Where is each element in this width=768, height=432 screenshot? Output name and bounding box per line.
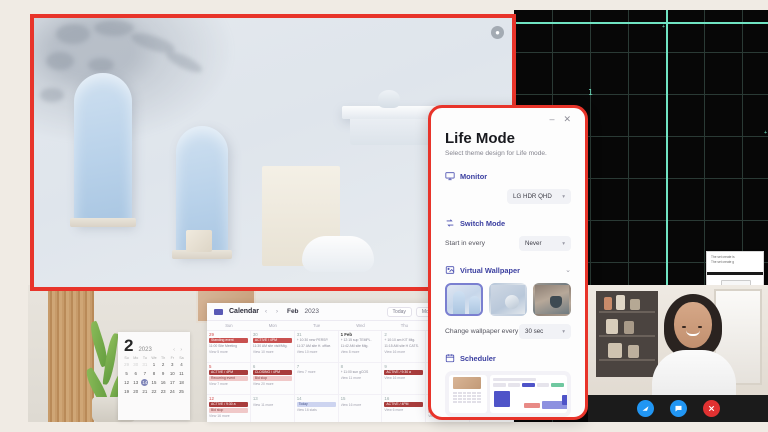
calendar-event[interactable]: View 16 more <box>384 376 423 381</box>
calendar-day-cell[interactable]: 9ACTIVE / 9:30 aView 16 more <box>382 363 426 395</box>
arch-base-left <box>70 218 136 227</box>
wall-calendar: 2 2023 ‹ › SuMoTuWeThFrSa 29303112345678… <box>118 332 190 420</box>
switch-icon <box>445 218 455 228</box>
page-subtitle: Select theme design for Life mode. <box>445 150 571 157</box>
chevron-down-icon: ▾ <box>562 194 565 200</box>
calendar-weekday: Wed <box>339 321 383 330</box>
calendar-event[interactable]: 11:15 AM site H CATS. <box>384 344 423 349</box>
cad-axis-horizontal <box>514 22 768 24</box>
scheduler-calendar-thumb <box>449 375 487 413</box>
calendar-day-number: 30 <box>253 332 292 337</box>
wallpaper-thumb-sphere[interactable] <box>489 283 527 316</box>
wall-calendar-day: 19 <box>122 388 131 395</box>
cad-tick: + <box>662 24 665 30</box>
calendar-icon <box>445 353 455 363</box>
calendar-event[interactable]: Today <box>297 402 336 407</box>
wall-calendar-day: 11 <box>177 370 186 377</box>
calendar-day-number: 5 <box>209 364 248 369</box>
calendar-logo-icon <box>214 309 223 315</box>
wallpaper-thumb-sunset[interactable] <box>533 283 571 316</box>
calendar-event[interactable]: 11:42 AM site Mtg. <box>341 344 380 349</box>
calendar-day-number: 15 <box>341 396 380 401</box>
calendar-event[interactable]: + 10:10 am KIT Mtg. <box>384 338 423 343</box>
calendar-event[interactable]: View 11 more <box>253 403 292 408</box>
calendar-event[interactable]: View 7 more <box>297 370 336 375</box>
cad-label: 1 <box>588 88 593 97</box>
wall-calendar-day: 20 <box>131 388 140 395</box>
section-scheduler: Scheduler <box>445 353 571 363</box>
calendar-day-number: 9 <box>384 364 423 369</box>
calendar-day-cell[interactable]: 5ACTIVE / 4PMRecurring eventView 7 more <box>207 363 251 395</box>
calendar-day-number: 12 <box>209 396 248 401</box>
calendar-app-title: Calendar <box>229 308 259 315</box>
mini-dialog-line-2: The set create g <box>711 260 759 265</box>
calendar-event[interactable]: View 16 stats <box>297 408 336 413</box>
calendar-day-number: 6 <box>253 364 292 369</box>
start-in-every-label: Start in every <box>445 240 485 247</box>
wall-calendar-day: 6 <box>131 370 140 377</box>
calendar-event[interactable]: + 12:15 sup TEMPL. <box>341 338 380 343</box>
calendar-event[interactable]: View 20 more <box>253 382 292 387</box>
calendar-event[interactable]: View 16 more <box>341 403 380 408</box>
calendar-day-number: 14 <box>297 396 336 401</box>
chat-button[interactable] <box>670 400 687 417</box>
calendar-day-number: 13 <box>253 396 292 401</box>
section-monitor: Monitor <box>445 171 571 181</box>
minimize-button[interactable]: – <box>549 115 554 124</box>
page-title: Life Mode <box>445 130 571 147</box>
life-mode-panel[interactable]: – ✕ Life Mode Select theme design for Li… <box>428 105 588 420</box>
wall-calendar-weekday: Fr <box>168 356 177 360</box>
wall-calendar-day: 12 <box>122 379 131 386</box>
wall-calendar-weekday: Su <box>122 356 131 360</box>
wall-calendar-day: 14 <box>141 379 148 386</box>
calendar-day-number: 1 Feb <box>341 332 380 337</box>
wall-calendar-day: 2 <box>159 361 168 368</box>
wall-calendar-day: 3 <box>168 361 177 368</box>
chevron-down-icon: ▾ <box>562 241 565 247</box>
calendar-day-number: 7 <box>297 364 336 369</box>
wallpaper-interval-value: 30 sec <box>525 328 543 335</box>
calendar-event[interactable]: + 11:00 sun gCOS <box>341 370 380 375</box>
calendar-day-cell[interactable]: 29Standing event11:00 Site MeetingView 5… <box>207 331 251 363</box>
calendar-today-button[interactable]: Today <box>387 307 412 317</box>
calendar-event[interactable]: ACTIVE / 4PM <box>209 370 248 375</box>
wallpaper-thumbnail-list <box>445 283 571 316</box>
wall-calendar-day: 8 <box>149 370 158 377</box>
monitor-row: LG HDR QHD ▾ <box>445 189 571 204</box>
screen-stage: 1 + + 2 2023 ‹ › SuMoTuWeThFrSa 29303112… <box>0 0 768 432</box>
calendar-day-cell[interactable]: 12ACTIVE / 9:30 aBid stopView 16 more <box>207 395 251 422</box>
calendar-weekday: Sun <box>207 321 251 330</box>
section-monitor-label: Monitor <box>460 172 487 181</box>
change-wallpaper-row: Change wallpaper every 30 sec ▾ <box>445 324 571 339</box>
basin <box>302 236 374 272</box>
arch-niche-left <box>74 73 132 225</box>
wall-calendar-day: 16 <box>159 379 168 386</box>
calendar-event[interactable]: CLOSING / 4PM <box>253 370 292 375</box>
wall-calendar-day: 23 <box>159 388 168 395</box>
calendar-event[interactable]: View 16 more <box>209 414 248 419</box>
calendar-event[interactable]: View 8 more <box>341 350 380 355</box>
wood-panel <box>48 285 94 422</box>
wall-calendar-day: 15 <box>149 379 158 386</box>
wall-calendar-day: 30 <box>131 361 140 368</box>
calendar-event[interactable]: View 10 more <box>253 350 292 355</box>
calendar-event[interactable]: View 11 more <box>341 376 380 381</box>
wall-calendar-day: 24 <box>168 388 177 395</box>
calendar-day-cell[interactable]: 31+ 10:30 new PERSP.11:37 AM site H. off… <box>295 331 339 363</box>
calendar-event[interactable]: View 16 more <box>384 350 423 355</box>
wallpaper-interval-select[interactable]: 30 sec ▾ <box>519 324 571 339</box>
calendar-day-number: 29 <box>209 332 248 337</box>
wall-calendar-day: 1 <box>149 361 158 368</box>
calendar-month-label: Feb <box>287 308 299 315</box>
wall-calendar-weekday: We <box>149 356 158 360</box>
wall-calendar-month: 2 <box>124 337 133 354</box>
wall-calendar-day: 10 <box>168 370 177 377</box>
decor-block <box>186 230 212 252</box>
wall-calendar-year: 2023 <box>138 347 151 353</box>
section-virtual-wallpaper-label: Virtual Wallpaper <box>460 266 520 275</box>
calendar-weekday: Thu <box>382 321 426 330</box>
monitor-select-value: LG HDR QHD <box>513 193 552 200</box>
wall-calendar-day: 21 <box>140 388 149 395</box>
calendar-event[interactable]: Standing event <box>209 338 248 343</box>
calendar-day-cell[interactable]: 6CLOSING / 4PMBid stopView 20 more <box>251 363 295 395</box>
scheduler-timeline-thumb <box>490 375 567 413</box>
calendar-day-cell[interactable]: 30ACTIVE / 4PM11:30 AM site visit/Mtg.Vi… <box>251 331 295 363</box>
calendar-event[interactable]: 11:00 Site Meeting <box>209 344 248 349</box>
wall-calendar-header: 2 2023 ‹ › <box>118 332 190 356</box>
wall-calendar-day: 9 <box>159 370 168 377</box>
calendar-day-cell[interactable]: 14TodayView 16 stats <box>295 395 339 422</box>
switch-mode-row: Start in every Never ▾ <box>445 236 571 251</box>
calendar-day-cell[interactable]: 2+ 10:10 am KIT Mtg.11:15 AM site H CATS… <box>382 331 426 363</box>
calendar-event[interactable]: Bid stop <box>209 408 248 413</box>
end-call-button[interactable] <box>703 400 720 417</box>
calendar-prev-button[interactable]: ‹ <box>265 309 270 315</box>
wallpaper-thumb-arches[interactable] <box>445 283 483 316</box>
section-switch-mode-label: Switch Mode <box>460 219 505 228</box>
close-button[interactable]: ✕ <box>563 115 571 124</box>
section-scheduler-label: Scheduler <box>460 354 496 363</box>
wall-calendar-day: 18 <box>177 379 186 386</box>
monitor-select[interactable]: LG HDR QHD ▾ <box>507 189 571 204</box>
calendar-day-number: 16 <box>384 396 423 401</box>
wall-calendar-day: 17 <box>168 379 177 386</box>
cad-tick: + <box>764 130 767 136</box>
chevron-down-icon[interactable]: ⌄ <box>565 266 571 274</box>
calendar-event[interactable]: + 10:30 new PERSP. <box>297 338 336 343</box>
calendar-day-cell[interactable]: 8+ 11:00 sun gCOSView 11 more <box>339 363 383 395</box>
wall-calendar-day: 4 <box>177 361 186 368</box>
close-dot-icon[interactable]: ● <box>491 26 504 39</box>
mini-dialog-divider <box>707 272 763 275</box>
calendar-next-button[interactable]: › <box>276 309 281 315</box>
start-in-every-value: Never <box>525 240 542 247</box>
wall-calendar-weekday: Th <box>159 356 168 360</box>
video-call-controls <box>588 395 768 422</box>
calendar-event[interactable]: 11:30 AM site visit/Mtg. <box>253 344 292 349</box>
calendar-day-number: 8 <box>341 364 380 369</box>
scheduler-preview[interactable] <box>445 371 571 417</box>
wall-calendar-day: 25 <box>177 388 186 395</box>
calendar-event[interactable]: ACTIVE / 9:30 a <box>209 402 248 407</box>
start-in-every-select[interactable]: Never ▾ <box>519 236 571 251</box>
wall-calendar-weekdays: SuMoTuWeThFrSa <box>118 356 190 360</box>
change-wallpaper-label: Change wallpaper every <box>445 328 518 335</box>
calendar-event[interactable]: ACTIVE / 9:30 a <box>384 370 423 375</box>
bookshelf <box>596 291 658 377</box>
calendar-event[interactable]: ACTIVE / 4PM <box>253 338 292 343</box>
calendar-day-cell[interactable]: 15View 16 more <box>339 395 383 422</box>
wall-calendar-day: 13 <box>131 379 140 386</box>
section-virtual-wallpaper[interactable]: Virtual Wallpaper ⌄ <box>445 265 571 275</box>
wall-calendar-day: 7 <box>140 370 149 377</box>
calendar-event[interactable]: View 5 more <box>209 350 248 355</box>
calendar-day-cell[interactable]: 13View 11 more <box>251 395 295 422</box>
chevron-down-icon: ▾ <box>562 329 565 335</box>
calendar-event[interactable]: Recurring event <box>209 376 248 381</box>
share-screen-button[interactable] <box>637 400 654 417</box>
calendar-year-label: 2023 <box>305 308 319 315</box>
calendar-event[interactable]: Bid stop <box>253 376 292 381</box>
wall-calendar-weekday: Tu <box>140 356 149 360</box>
calendar-day-cell[interactable]: 1 Feb+ 12:15 sup TEMPL.11:42 AM site Mtg… <box>339 331 383 363</box>
calendar-event[interactable]: ACTIVE / 4PM <box>384 402 423 407</box>
life-mode-titlebar: – ✕ <box>445 108 571 126</box>
calendar-day-number: 2 <box>384 332 423 337</box>
image-icon <box>445 265 455 275</box>
calendar-weekday: Mon <box>251 321 295 330</box>
calendar-event[interactable]: View 6 more <box>384 408 423 413</box>
calendar-day-number: 31 <box>297 332 336 337</box>
face <box>674 302 712 348</box>
wall-calendar-day: 5 <box>122 370 131 377</box>
calendar-event[interactable]: View 7 more <box>209 382 248 387</box>
calendar-day-cell[interactable]: 7View 7 more <box>295 363 339 395</box>
wall-calendar-day: 31 <box>140 361 149 368</box>
wall-calendar-day: 22 <box>149 388 158 395</box>
calendar-event[interactable]: View 10 more <box>297 350 336 355</box>
wall-calendar-grid: 2930311234567891011121314151617181920212… <box>118 360 190 396</box>
vase <box>378 90 400 108</box>
section-switch-mode: Switch Mode <box>445 218 571 228</box>
video-participant <box>650 294 738 404</box>
monitor-icon <box>445 171 455 181</box>
calendar-day-cell[interactable]: 16ACTIVE / 4PMView 6 more <box>382 395 426 422</box>
calendar-weekday: Tue <box>295 321 339 330</box>
wall-calendar-day: 29 <box>122 361 131 368</box>
wall-calendar-arrows: ‹ › <box>173 347 184 353</box>
wall-calendar-weekday: Sa <box>177 356 186 360</box>
video-call-window[interactable] <box>588 285 768 422</box>
calendar-event[interactable]: 11:37 AM site H. office. <box>297 344 336 349</box>
wall-calendar-weekday: Mo <box>131 356 140 360</box>
